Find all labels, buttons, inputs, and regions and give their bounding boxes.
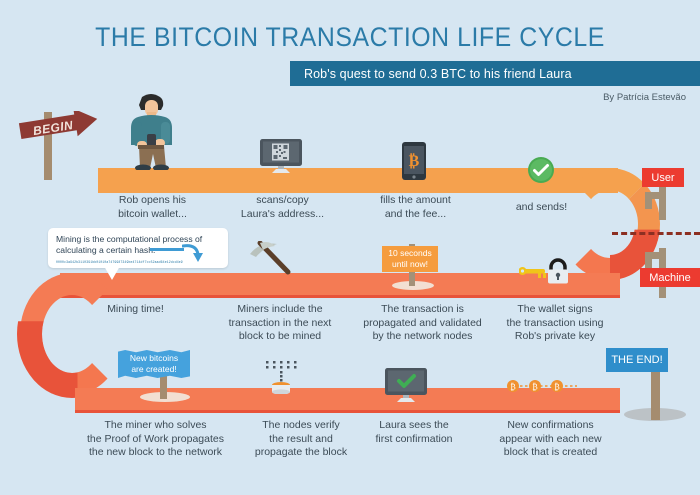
svg-text:₿: ₿ [409, 152, 420, 170]
step-label-propagated: The transaction is propagated and valida… [355, 303, 490, 344]
person-with-phone-icon [120, 92, 182, 170]
desktop-qr-code-icon [258, 139, 304, 175]
desktop-check-icon [383, 368, 429, 404]
machine-sign-arm-vertical [645, 252, 652, 269]
svg-text:₿: ₿ [554, 382, 560, 392]
curved-arrow-down-icon [182, 243, 204, 263]
step-label-miners-include: Miners include the transaction in the ne… [215, 303, 345, 344]
step-label-sends: and sends! [489, 201, 594, 215]
byline: By Patrícia Estevão [0, 92, 686, 103]
infographic-canvas: THE BITCOIN TRANSACTION LIFE CYCLE Rob's… [0, 0, 700, 495]
nodes-broadcast-icon [258, 360, 304, 394]
user-sign-label: User [642, 168, 684, 187]
step-label-nodes-verify: The nodes verify the result and propagat… [236, 419, 366, 460]
subtitle-text: Rob's quest to send 0.3 BTC to his frien… [290, 67, 572, 81]
the-end-sign-label: THE END! [606, 348, 668, 372]
smartphone-bitcoin-icon: ₿ [402, 142, 426, 180]
pickaxe-icon [248, 241, 296, 275]
step-label-wallet-signs: The wallet signs the transaction using R… [490, 303, 620, 344]
step-label-scan-address: scans/copy Laura's address... [225, 194, 340, 221]
seconds-sign-label: 10 seconds until now! [382, 246, 438, 272]
user-sign-arm-vertical [645, 192, 652, 209]
green-check-circle-icon [527, 156, 555, 184]
mining-callout-tail [104, 266, 120, 280]
page-title: THE BITCOIN TRANSACTION LIFE CYCLE [28, 22, 672, 53]
step-label-fill-amount: fills the amount and the fee... [358, 194, 473, 221]
machine-sign-label: Machine [640, 268, 700, 287]
step-label-laura-sees: Laura sees the first confirmation [355, 419, 473, 446]
bitcoin-chain-icon: ₿ ₿ ₿ [505, 378, 585, 394]
svg-text:₿: ₿ [510, 382, 516, 392]
mining-underline [150, 248, 184, 251]
step-label-miner-solves: The miner who solves the Proof of Work p… [78, 419, 233, 460]
step-label-new-confirmations: New confirmations appear with each new b… [478, 419, 623, 460]
new-bitcoins-banner-label: New bitcoins are created! [118, 350, 190, 378]
key-lock-icon [519, 258, 573, 284]
step-label-mining-time: Mining time! [78, 303, 193, 317]
subtitle-banner: Rob's quest to send 0.3 BTC to his frien… [290, 61, 700, 86]
svg-text:₿: ₿ [532, 382, 538, 392]
user-machine-divider [612, 232, 700, 235]
step-label-rob-wallet: Rob opens his bitcoin wallet... [95, 194, 210, 221]
